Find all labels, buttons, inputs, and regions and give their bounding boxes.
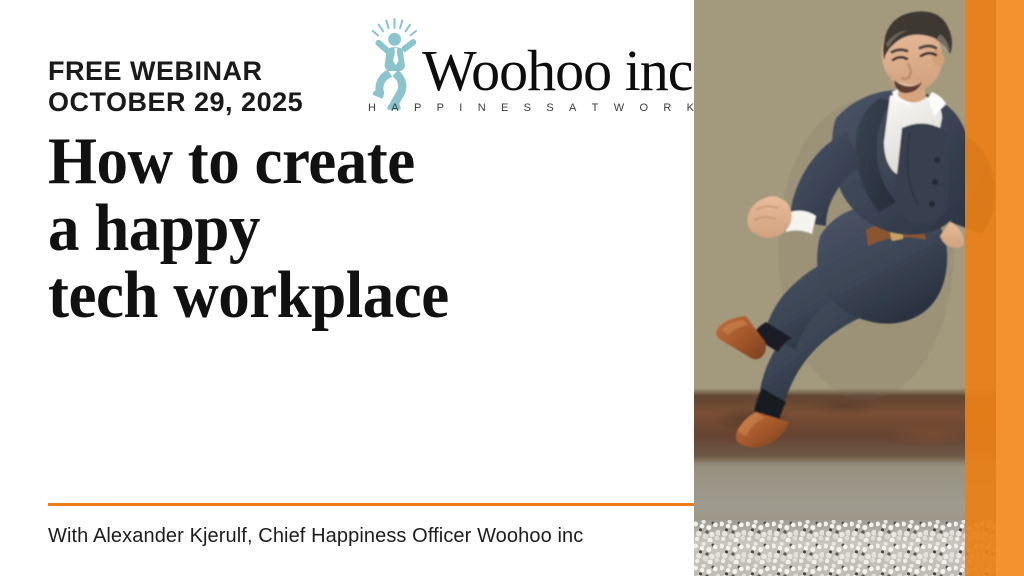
headline-line-2: a happy bbox=[48, 193, 678, 264]
headline-line-1: How to create bbox=[48, 126, 678, 197]
tagline-letter: S bbox=[524, 102, 531, 114]
tagline-letter: T bbox=[592, 102, 599, 114]
webinar-slide: FREE WEBINAR OCTOBER 29, 2025 How to cre… bbox=[0, 0, 1024, 576]
logo-tagline: H A P P I N E S S A T W O R K bbox=[368, 102, 694, 114]
tagline-letter: E bbox=[501, 102, 508, 114]
page-title: How to create a happy tech workplace bbox=[48, 126, 678, 327]
event-date-label: OCTOBER 29, 2025 bbox=[48, 87, 368, 118]
event-eyebrow: FREE WEBINAR OCTOBER 29, 2025 bbox=[48, 56, 368, 118]
tagline-letter: P bbox=[437, 102, 444, 114]
tagline-letter: K bbox=[687, 102, 694, 114]
tagline-letter: I bbox=[459, 102, 462, 114]
presenter-credit: With Alexander Kjerulf, Chief Happiness … bbox=[48, 523, 583, 549]
tagline-letter: R bbox=[663, 102, 671, 114]
tagline-letter: N bbox=[478, 102, 486, 114]
tagline-letter: A bbox=[391, 102, 398, 114]
event-type-label: FREE WEBINAR bbox=[48, 56, 368, 87]
tagline-letter: P bbox=[414, 102, 421, 114]
tagline-letter: H bbox=[368, 102, 376, 114]
footer-divider bbox=[48, 503, 694, 506]
tagline-letter: O bbox=[639, 102, 648, 114]
woohoo-logo: Woohoo inc. H A P P I N E S S A T W O R … bbox=[360, 18, 694, 118]
headline-line-3: tech workplace bbox=[48, 260, 678, 331]
orange-accent-band bbox=[996, 0, 1024, 576]
orange-overlay-band bbox=[965, 0, 996, 576]
logo-wordmark: Woohoo inc. bbox=[422, 42, 706, 100]
tagline-letter: A bbox=[569, 102, 576, 114]
tagline-letter: W bbox=[614, 102, 624, 114]
tagline-letter: S bbox=[546, 102, 553, 114]
